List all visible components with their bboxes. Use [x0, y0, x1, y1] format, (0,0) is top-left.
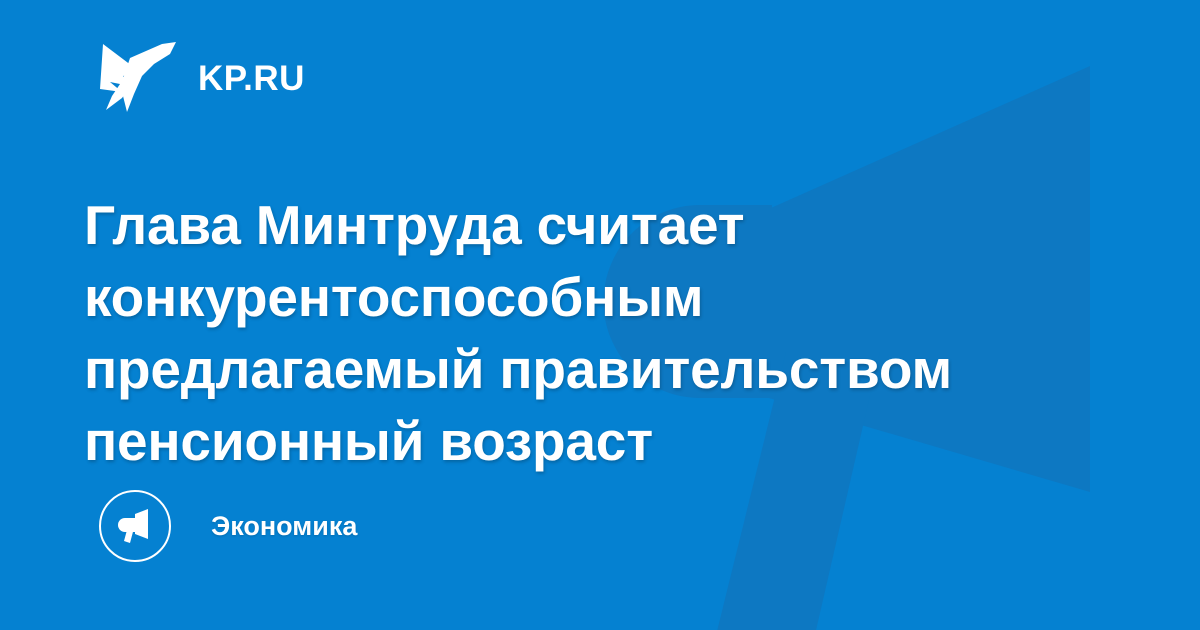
category-label: Экономика — [211, 513, 357, 540]
brand-header[interactable]: KP.RU — [100, 40, 305, 114]
brand-wordmark: KP.RU — [198, 59, 305, 96]
page-title: Глава Минтруда считает конкурентоспособн… — [84, 189, 1044, 477]
swallow-bird-icon — [100, 42, 176, 112]
category-badge[interactable]: Экономика — [99, 489, 357, 563]
category-icon-circle — [99, 490, 171, 562]
share-card: KP.RU Глава Минтруда считает конкурентос… — [0, 0, 1200, 630]
megaphone-icon — [115, 506, 155, 546]
